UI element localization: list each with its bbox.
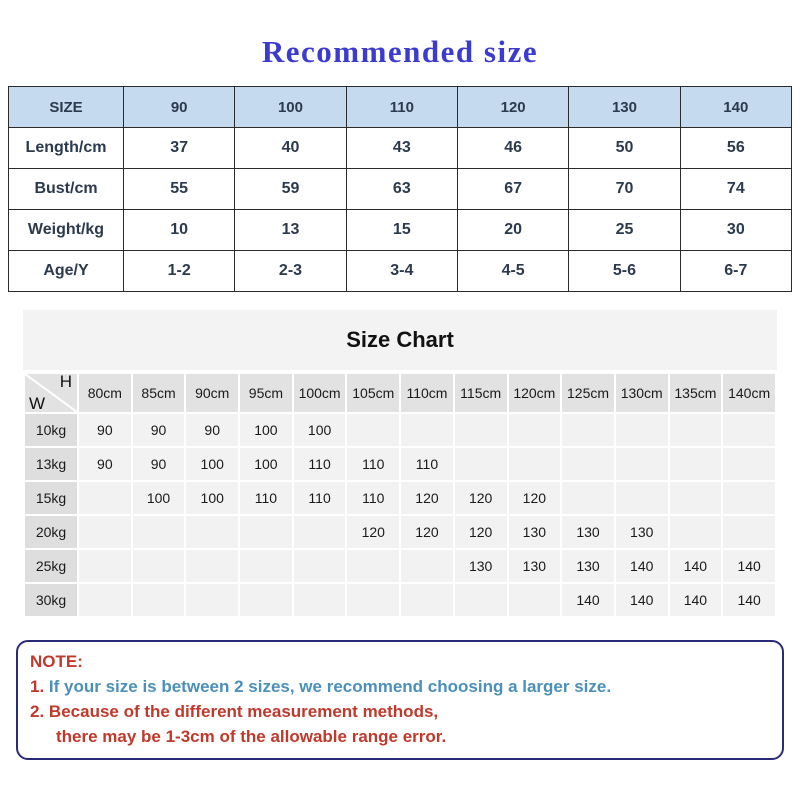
grid-cell-empty (294, 550, 346, 582)
grid-cell-size: 130 (455, 550, 507, 582)
rec-cell: 6-7 (680, 251, 791, 292)
grid-cell-size: 140 (616, 550, 668, 582)
rec-cell: 46 (457, 128, 568, 169)
grid-col-header-90cm: 90cm (186, 374, 238, 412)
grid-col-header-100cm: 100cm (294, 374, 346, 412)
rec-cell: 5-6 (569, 251, 680, 292)
grid-cell-empty (670, 482, 722, 514)
rec-cell: 37 (124, 128, 235, 169)
grid-axis-label-height: H (60, 374, 72, 392)
rec-cell: 63 (346, 169, 457, 210)
grid-cell-size: 110 (294, 482, 346, 514)
grid-row: 15kg100100110110110120120120 (25, 482, 775, 514)
grid-cell-size: 140 (562, 584, 614, 616)
grid-cell-size: 110 (294, 448, 346, 480)
rec-cell: 2-3 (235, 251, 346, 292)
grid-cell-empty (455, 584, 507, 616)
grid-cell-empty (723, 414, 775, 446)
grid-cell-size: 90 (133, 448, 185, 480)
rec-row-label: Weight/kg (9, 210, 124, 251)
grid-row-header-30kg: 30kg (25, 584, 77, 616)
grid-axis-label-weight: W (29, 394, 45, 412)
recommended-size-table-wrap: SIZE90100110120130140Length/cm3740434650… (8, 86, 792, 292)
grid-cell-empty (240, 584, 292, 616)
rec-cell: 55 (124, 169, 235, 210)
note-line-2: 2. Because of the different measurement … (30, 699, 782, 724)
rec-cell: 3-4 (346, 251, 457, 292)
grid-cell-empty (186, 584, 238, 616)
grid-cell-size: 140 (723, 550, 775, 582)
grid-cell-size: 140 (670, 584, 722, 616)
grid-cell-empty (401, 414, 453, 446)
grid-cell-empty (294, 516, 346, 548)
grid-cell-empty (562, 414, 614, 446)
rec-cell: 4-5 (457, 251, 568, 292)
rec-cell: 56 (680, 128, 791, 169)
rec-cell: 25 (569, 210, 680, 251)
rec-cell: 43 (346, 128, 457, 169)
grid-cell-empty (401, 550, 453, 582)
grid-col-header-105cm: 105cm (347, 374, 399, 412)
grid-cell-size: 100 (240, 448, 292, 480)
note-box: NOTE: 1. If your size is between 2 sizes… (16, 640, 784, 760)
grid-cell-empty (670, 448, 722, 480)
grid-cell-size: 90 (79, 414, 131, 446)
rec-cell: 70 (569, 169, 680, 210)
grid-row-header-20kg: 20kg (25, 516, 77, 548)
grid-cell-size: 130 (616, 516, 668, 548)
grid-cell-empty (562, 448, 614, 480)
grid-col-header-80cm: 80cm (79, 374, 131, 412)
grid-col-header-95cm: 95cm (240, 374, 292, 412)
rec-table-row: Length/cm374043465056 (9, 128, 792, 169)
grid-cell-empty (670, 414, 722, 446)
grid-cell-empty (186, 550, 238, 582)
grid-cell-empty (670, 516, 722, 548)
grid-cell-empty (509, 414, 561, 446)
grid-cell-empty (455, 414, 507, 446)
grid-cell-size: 90 (186, 414, 238, 446)
rec-header-size-120: 120 (457, 87, 568, 128)
grid-cell-empty (347, 550, 399, 582)
grid-cell-size: 140 (616, 584, 668, 616)
grid-cell-empty (723, 448, 775, 480)
rec-header-size-label: SIZE (9, 87, 124, 128)
rec-table-row: Bust/cm555963677074 (9, 169, 792, 210)
grid-cell-size: 120 (401, 516, 453, 548)
rec-row-label: Length/cm (9, 128, 124, 169)
grid-cell-size: 100 (294, 414, 346, 446)
grid-cell-size: 130 (509, 550, 561, 582)
rec-row-label: Bust/cm (9, 169, 124, 210)
grid-cell-empty (133, 550, 185, 582)
grid-col-header-135cm: 135cm (670, 374, 722, 412)
rec-cell: 20 (457, 210, 568, 251)
rec-cell: 15 (346, 210, 457, 251)
grid-cell-size: 120 (455, 482, 507, 514)
grid-cell-empty (347, 584, 399, 616)
note-line-1-text: If your size is between 2 sizes, we reco… (49, 677, 611, 696)
grid-cell-size: 130 (562, 516, 614, 548)
grid-cell-size: 110 (347, 482, 399, 514)
grid-cell-empty (186, 516, 238, 548)
grid-cell-size: 100 (133, 482, 185, 514)
rec-cell: 74 (680, 169, 791, 210)
grid-cell-empty (347, 414, 399, 446)
grid-cell-empty (509, 448, 561, 480)
grid-cell-size: 140 (670, 550, 722, 582)
rec-header-size-130: 130 (569, 87, 680, 128)
grid-cell-size: 120 (509, 482, 561, 514)
grid-cell-empty (401, 584, 453, 616)
grid-cell-empty (133, 584, 185, 616)
grid-cell-empty (616, 448, 668, 480)
grid-cell-size: 110 (401, 448, 453, 480)
grid-cell-size: 130 (509, 516, 561, 548)
grid-row-header-10kg: 10kg (25, 414, 77, 446)
grid-cell-empty (79, 550, 131, 582)
grid-row: 30kg140140140140 (25, 584, 775, 616)
grid-cell-size: 100 (240, 414, 292, 446)
grid-col-header-130cm: 130cm (616, 374, 668, 412)
size-chart-grid-body: WH80cm85cm90cm95cm100cm105cm110cm115cm12… (25, 374, 775, 616)
rec-cell: 30 (680, 210, 791, 251)
rec-header-size-100: 100 (235, 87, 346, 128)
grid-cell-empty (294, 584, 346, 616)
grid-cell-empty (616, 414, 668, 446)
grid-cell-empty (562, 482, 614, 514)
grid-cell-size: 100 (186, 482, 238, 514)
grid-col-header-125cm: 125cm (562, 374, 614, 412)
rec-header-size-140: 140 (680, 87, 791, 128)
rec-cell: 13 (235, 210, 346, 251)
grid-row-header-13kg: 13kg (25, 448, 77, 480)
rec-cell: 10 (124, 210, 235, 251)
grid-cell-size: 90 (133, 414, 185, 446)
rec-cell: 67 (457, 169, 568, 210)
grid-corner-cell: WH (25, 374, 77, 412)
page-title: Recommended size (0, 0, 800, 67)
grid-col-header-110cm: 110cm (401, 374, 453, 412)
grid-row-header-15kg: 15kg (25, 482, 77, 514)
rec-table-header-row: SIZE90100110120130140 (9, 87, 792, 128)
note-heading: NOTE: (30, 649, 782, 674)
grid-cell-empty (240, 516, 292, 548)
grid-cell-size: 100 (186, 448, 238, 480)
rec-cell: 1-2 (124, 251, 235, 292)
grid-cell-size: 130 (562, 550, 614, 582)
grid-cell-size: 110 (347, 448, 399, 480)
grid-cell-size: 90 (79, 448, 131, 480)
rec-table-row: Age/Y1-22-33-44-55-66-7 (9, 251, 792, 292)
grid-row: 13kg9090100100110110110 (25, 448, 775, 480)
note-line-1: 1. If your size is between 2 sizes, we r… (30, 674, 782, 699)
size-chart-section: Size Chart WH80cm85cm90cm95cm100cm105cm1… (23, 310, 777, 618)
size-chart-grid: WH80cm85cm90cm95cm100cm105cm110cm115cm12… (23, 372, 777, 618)
rec-cell: 40 (235, 128, 346, 169)
grid-col-header-140cm: 140cm (723, 374, 775, 412)
grid-cell-empty (240, 550, 292, 582)
grid-cell-size: 120 (401, 482, 453, 514)
grid-col-header-85cm: 85cm (133, 374, 185, 412)
grid-col-header-120cm: 120cm (509, 374, 561, 412)
grid-cell-size: 110 (240, 482, 292, 514)
grid-cell-empty (79, 516, 131, 548)
grid-cell-empty (79, 482, 131, 514)
grid-row: 20kg120120120130130130 (25, 516, 775, 548)
note-line-1-number: 1. (30, 677, 44, 696)
rec-header-size-110: 110 (346, 87, 457, 128)
grid-cell-empty (509, 584, 561, 616)
grid-cell-empty (616, 482, 668, 514)
grid-cell-empty (133, 516, 185, 548)
rec-cell: 59 (235, 169, 346, 210)
grid-cell-size: 120 (347, 516, 399, 548)
recommended-size-table-body: SIZE90100110120130140Length/cm3740434650… (9, 87, 792, 292)
grid-cell-empty (723, 516, 775, 548)
grid-cell-empty (455, 448, 507, 480)
size-chart-title: Size Chart (23, 310, 777, 370)
grid-row: 25kg130130130140140140 (25, 550, 775, 582)
note-line-2-text: Because of the different measurement met… (49, 702, 438, 721)
grid-cell-empty (723, 482, 775, 514)
grid-header-row: WH80cm85cm90cm95cm100cm105cm110cm115cm12… (25, 374, 775, 412)
grid-col-header-115cm: 115cm (455, 374, 507, 412)
recommended-size-table: SIZE90100110120130140Length/cm3740434650… (8, 86, 792, 292)
rec-header-size-90: 90 (124, 87, 235, 128)
rec-row-label: Age/Y (9, 251, 124, 292)
grid-cell-size: 140 (723, 584, 775, 616)
grid-cell-empty (79, 584, 131, 616)
grid-cell-size: 120 (455, 516, 507, 548)
rec-table-row: Weight/kg101315202530 (9, 210, 792, 251)
grid-row-header-25kg: 25kg (25, 550, 77, 582)
grid-row: 10kg909090100100 (25, 414, 775, 446)
rec-cell: 50 (569, 128, 680, 169)
note-line-2-number: 2. (30, 702, 44, 721)
note-line-3: there may be 1-3cm of the allowable rang… (30, 724, 782, 749)
